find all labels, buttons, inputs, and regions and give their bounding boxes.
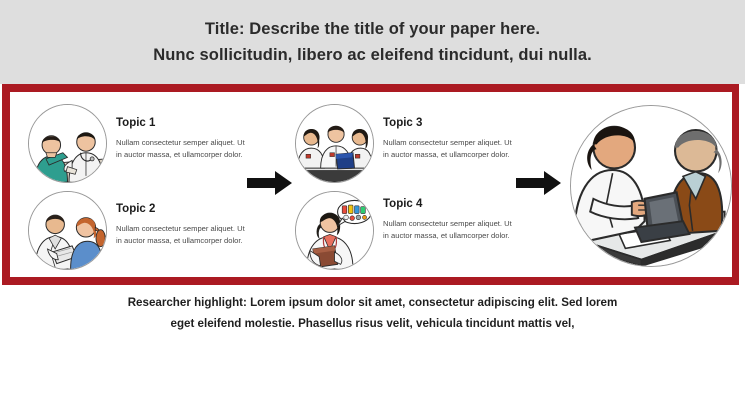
topic-1-image bbox=[28, 104, 107, 183]
topic-1-body: Nullam consectetur semper aliquet. Ut in… bbox=[116, 137, 248, 160]
red-frame-border: Topic 1 Nullam consectetur semper alique… bbox=[2, 84, 739, 285]
topic-3-image bbox=[295, 104, 374, 183]
topic-2-image bbox=[28, 191, 107, 270]
topic-3-block: Topic 3 Nullam consectetur semper alique… bbox=[383, 117, 515, 160]
result-image bbox=[570, 105, 732, 267]
flow-arrow-1 bbox=[246, 170, 293, 196]
page-title-line-1: Title: Describe the title of your paper … bbox=[205, 16, 540, 42]
topic-3-body: Nullam consectetur semper aliquet. Ut in… bbox=[383, 137, 515, 160]
topic-2-block: Topic 2 Nullam consectetur semper alique… bbox=[116, 203, 248, 246]
caption-line-1: Researcher highlight: Lorem ipsum dolor … bbox=[0, 292, 745, 313]
topic-1-heading: Topic 1 bbox=[116, 117, 248, 130]
topic-4-image bbox=[295, 191, 374, 270]
header: Title: Describe the title of your paper … bbox=[0, 0, 745, 84]
caption-line-2: eget eleifend molestie. Phasellus risus … bbox=[0, 313, 745, 334]
topic-4-heading: Topic 4 bbox=[383, 198, 515, 211]
page-title-line-2: Nunc sollicitudin, libero ac eleifend ti… bbox=[153, 42, 592, 68]
topic-3-heading: Topic 3 bbox=[383, 117, 515, 130]
topic-1-block: Topic 1 Nullam consectetur semper alique… bbox=[116, 117, 248, 160]
topic-2-heading: Topic 2 bbox=[116, 203, 248, 216]
graphical-abstract-page: Title: Describe the title of your paper … bbox=[0, 0, 745, 417]
researcher-highlight-caption: Researcher highlight: Lorem ipsum dolor … bbox=[0, 292, 745, 334]
topic-4-body: Nullam consectetur semper aliquet. Ut in… bbox=[383, 218, 515, 241]
topic-4-block: Topic 4 Nullam consectetur semper alique… bbox=[383, 198, 515, 241]
diagram-panel: Topic 1 Nullam consectetur semper alique… bbox=[10, 92, 732, 277]
flow-arrow-2 bbox=[515, 170, 562, 196]
topic-2-body: Nullam consectetur semper aliquet. Ut in… bbox=[116, 223, 248, 246]
